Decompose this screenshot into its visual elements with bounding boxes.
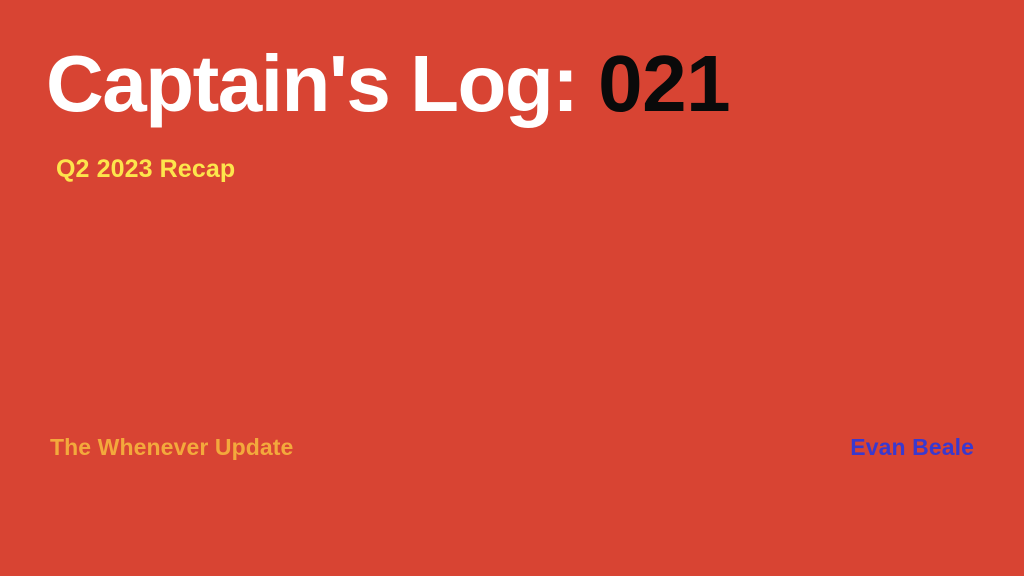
slide-canvas: Captain's Log: 021 Q2 2023 Recap The Whe… — [0, 0, 1024, 576]
slide-subtitle: Q2 2023 Recap — [56, 154, 235, 184]
footer-author-name: Evan Beale — [850, 434, 974, 461]
page-title: Captain's Log: 021 — [46, 44, 946, 124]
title-main-text: Captain's Log: — [46, 39, 598, 128]
title-episode-number: 021 — [598, 39, 730, 128]
title-block: Captain's Log: 021 — [46, 44, 946, 124]
slide-footer: The Whenever Update Evan Beale — [0, 430, 1024, 464]
footer-series-label: The Whenever Update — [50, 434, 293, 461]
